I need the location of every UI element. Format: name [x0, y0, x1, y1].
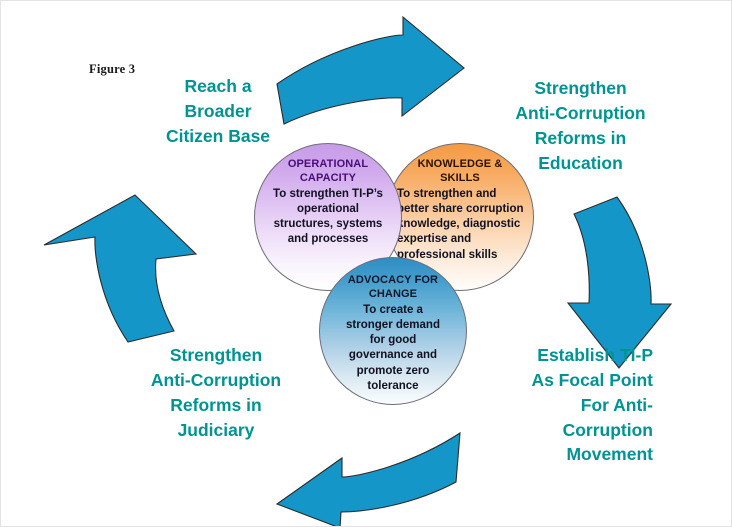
circle-advocacy-for-change-title: ADVOCACY FOR CHANGE [348, 274, 438, 302]
figure-diagram: Figure 3 Reach a Broader Citizen Base St… [0, 0, 732, 527]
circle-knowledge-skills-title: KNOWLEDGE & SKILLS [418, 158, 503, 186]
circle-advocacy-for-change-body: To create a stronger demand for good gov… [329, 303, 457, 395]
arrow-top-right-icon [277, 17, 464, 124]
arrow-bottom-left-icon [277, 433, 460, 527]
outcome-label-strengthen-reforms-judiciary: Strengthen Anti-Corruption Reforms in Ju… [131, 343, 301, 442]
circle-operational-capacity-body: To strengthen TI-P’s operational structu… [260, 187, 396, 248]
arrow-left-up-icon [44, 195, 196, 342]
circle-advocacy-for-change: ADVOCACY FOR CHANGE To create a stronger… [319, 257, 467, 405]
outcome-label-establish-focal-point: Establish TI-P As Focal Point For Anti- … [463, 343, 653, 467]
outcome-label-strengthen-reforms-education: Strengthen Anti-Corruption Reforms in Ed… [493, 76, 668, 175]
outcome-label-reach-broader-citizen-base: Reach a Broader Citizen Base [143, 74, 293, 149]
figure-caption: Figure 3 [89, 62, 135, 77]
circle-knowledge-skills-body: To strengthen and better share corruptio… [390, 187, 530, 263]
circle-operational-capacity-title: OPERATIONAL CAPACITY [288, 158, 368, 186]
